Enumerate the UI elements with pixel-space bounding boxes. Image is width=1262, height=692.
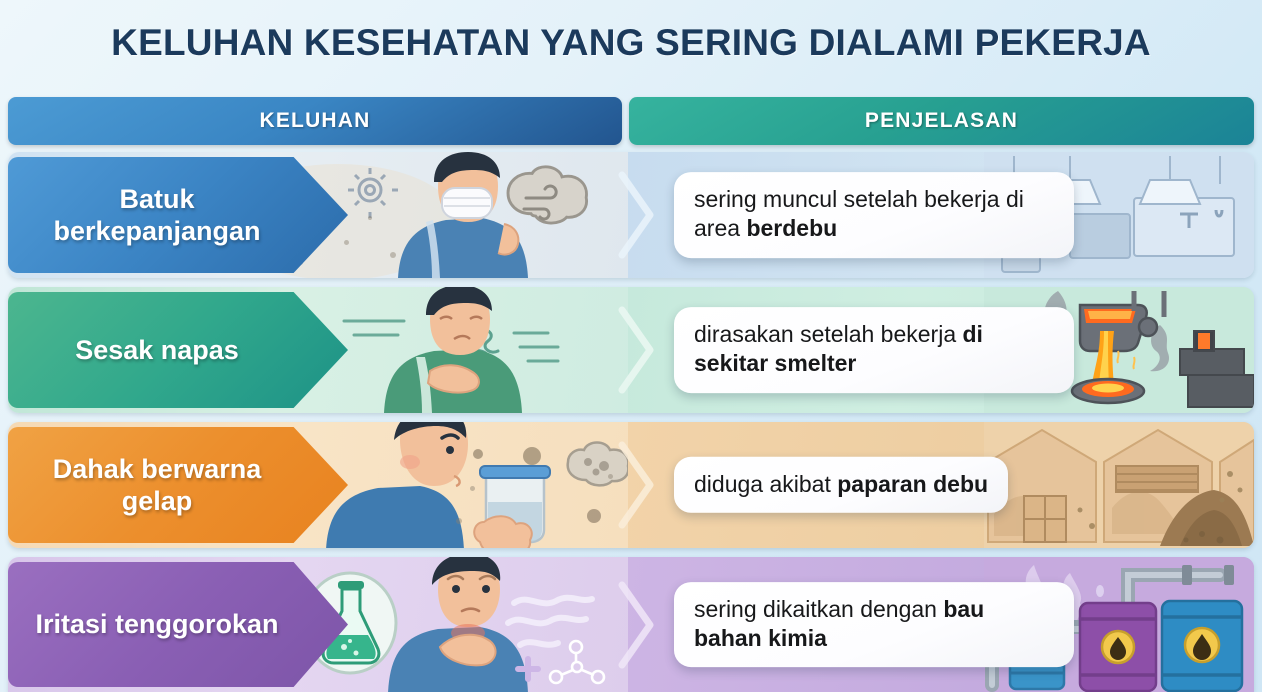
keluhan-label-sesak: Sesak napas: [8, 292, 348, 408]
page-title: KELUHAN KESEHATAN YANG SERING DIALAMI PE…: [0, 22, 1262, 64]
penjelasan-bubble-dahak: diduga akibat paparan debu: [674, 457, 1008, 513]
table-row: Sesak napas: [8, 287, 1254, 413]
penjelasan-bubble-iritasi: sering dikaitkan dengan bau bahan kimia: [674, 582, 1074, 668]
row-left-illustration: Sesak napas: [8, 287, 628, 413]
header-cell-keluhan: KELUHAN: [8, 97, 622, 145]
table-header-bar: KELUHAN PENJELASAN: [8, 97, 1254, 145]
row-left-illustration: Batuk berkepanjangan: [8, 152, 628, 278]
table-row: Dahak berwarna gelap: [8, 422, 1254, 548]
chevron-right-icon: [614, 579, 660, 671]
row-right-panel: sering dikaitkan dengan bau bahan kimia: [628, 557, 1254, 692]
row-left-illustration: Iritasi tenggorokan: [8, 557, 628, 692]
penjelasan-emphasis: paparan debu: [837, 471, 988, 497]
penjelasan-text: sering dikaitkan dengan: [694, 596, 943, 622]
row-right-panel: diduga akibat paparan debu: [628, 422, 1254, 548]
chevron-right-icon: [614, 169, 660, 261]
chevron-right-icon: [614, 439, 660, 531]
chevron-right-icon: [614, 304, 660, 396]
keluhan-label-iritasi: Iritasi tenggorokan: [8, 562, 348, 687]
penjelasan-text: dirasakan setelah bekerja: [694, 321, 963, 347]
keluhan-label-batuk: Batuk berkepanjangan: [8, 157, 348, 273]
header-cell-penjelasan: PENJELASAN: [629, 97, 1254, 145]
penjelasan-bubble-batuk: sering muncul setelah bekerja di area be…: [674, 172, 1074, 258]
keluhan-label-dahak: Dahak berwarna gelap: [8, 427, 348, 543]
table-row: Iritasi tenggorokan: [8, 557, 1254, 692]
penjelasan-text: diduga akibat: [694, 471, 837, 497]
table-row: Batuk berkepanjangan: [8, 152, 1254, 278]
penjelasan-emphasis: berdebu: [746, 216, 837, 242]
dusty-warehouse-icon: [984, 422, 1254, 548]
row-left-illustration: Dahak berwarna gelap: [8, 422, 628, 548]
infographic-canvas: KELUHAN KESEHATAN YANG SERING DIALAMI PE…: [0, 0, 1262, 692]
row-right-panel: sering muncul setelah bekerja di area be…: [628, 152, 1254, 278]
penjelasan-bubble-sesak: dirasakan setelah bekerja di sekitar sme…: [674, 307, 1074, 393]
row-right-panel: dirasakan setelah bekerja di sekitar sme…: [628, 287, 1254, 413]
penjelasan-text: sering muncul setelah bekerja di area: [694, 186, 1024, 241]
